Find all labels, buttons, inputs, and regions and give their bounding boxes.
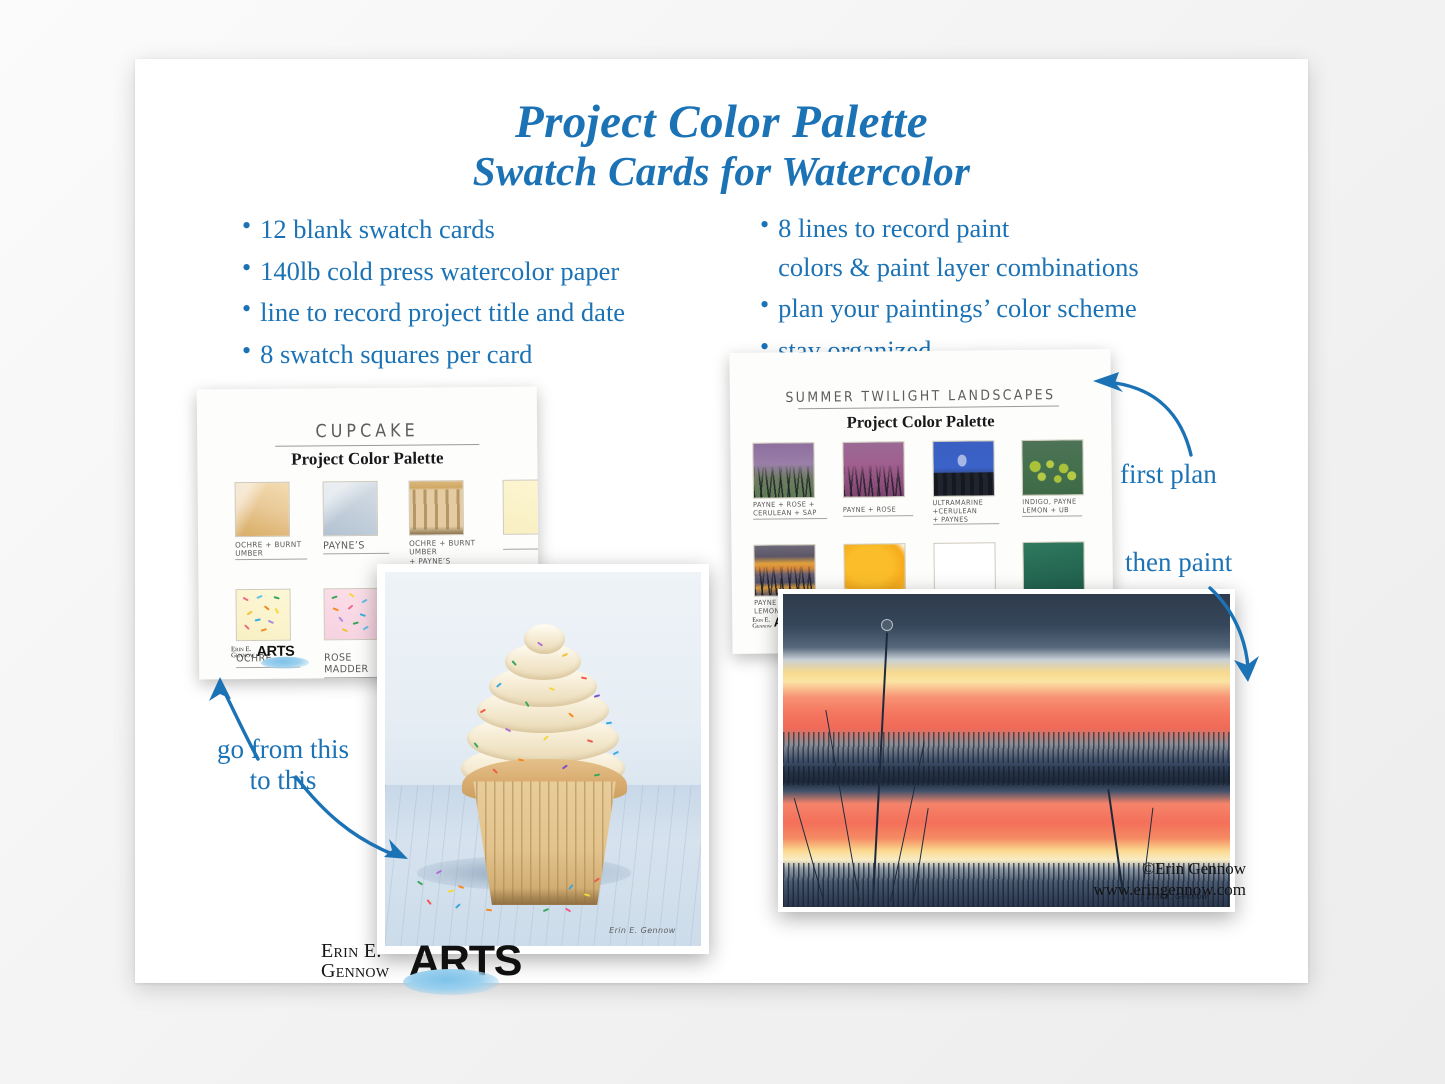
page-title: Project Color Palette Swatch Cards for W… — [135, 99, 1308, 195]
arrow-first-plan — [1085, 369, 1215, 464]
swatch-box[interactable] — [1022, 439, 1085, 496]
swatch-cell: PAYNE’S — [323, 481, 394, 568]
swatch-cell: OCHRE + BURNT UMBER + PAYNE’S — [409, 480, 488, 567]
swatch-cell: ULTRAMARINE +CERULEAN + PAYNES — [932, 440, 1009, 525]
artist-signature: Erin E. Gennow — [609, 926, 676, 935]
feature-text: plan your paintings’ color scheme — [778, 289, 1137, 328]
swatch-box[interactable] — [409, 480, 464, 535]
list-item: •12 blank swatch cards — [242, 210, 742, 249]
list-item: •plan your paintings’ color scheme — [760, 289, 1280, 328]
copyright-text: ©Erin Gennow — [1093, 858, 1246, 880]
list-item: •line to record project title and date — [242, 293, 742, 332]
title-line-2: Swatch Cards for Watercolor — [135, 149, 1308, 195]
swatch-cell: OCHRE + BURNT UMBER — [235, 482, 308, 569]
watercolor-splash-icon — [403, 969, 499, 995]
bullet-dot: • — [760, 209, 769, 242]
brand-name-line-2: Gennow — [321, 961, 389, 981]
arrow-down-right — [290, 771, 420, 881]
swatch-box[interactable] — [842, 441, 905, 498]
swatch-box[interactable] — [323, 588, 378, 640]
feature-list-left: •12 blank swatch cards •140lb cold press… — [242, 210, 742, 377]
swatch-box[interactable] — [235, 589, 290, 641]
sprinkle — [606, 721, 612, 724]
swatch-label: PAYNE + ROSE + CERULEAN + SAP — [753, 501, 829, 518]
page-background: Project Color Palette Swatch Cards for W… — [0, 0, 1445, 1084]
bullet-dot: • — [242, 335, 251, 368]
arrow-up-left — [190, 671, 300, 761]
feature-text: line to record project title and date — [260, 293, 625, 332]
far-treeline — [783, 732, 1230, 763]
swatch-label: INDIGO, PAYNE LEMON + UB — [1022, 498, 1098, 515]
swatch-box[interactable] — [235, 482, 290, 537]
swatch-box[interactable] — [752, 442, 815, 499]
brand-name-line-1: Erin E. — [321, 941, 389, 961]
cupcake-liner — [467, 781, 622, 904]
swatch-label: ULTRAMARINE +CERULEAN + PAYNES — [932, 499, 1008, 524]
feature-text: 12 blank swatch cards — [260, 210, 495, 249]
bullet-dot: • — [242, 293, 251, 326]
painting-cupcake[interactable]: Erin E. Gennow — [377, 564, 709, 954]
bullet-dot: • — [242, 252, 251, 285]
product-sheet: Project Color Palette Swatch Cards for W… — [135, 59, 1308, 983]
feature-text: 8 lines to record paint colors & paint l… — [778, 209, 1139, 286]
website-url: www.eringennow.com — [1093, 879, 1246, 901]
card-brand-logo: Erin E. Gennow ARTS — [231, 644, 295, 661]
swatch-cell — [503, 479, 540, 566]
list-item: •140lb cold press watercolor paper — [242, 252, 742, 291]
moon-icon — [881, 619, 893, 631]
title-rule — [275, 444, 479, 447]
landscape-card-handwritten-title: SUMMER TWILIGHT LANDSCAPES — [730, 385, 1111, 406]
swatch-underline — [843, 515, 913, 517]
swatch-label: OCHRE + BURNT UMBER + PAYNE’S — [409, 539, 487, 566]
footer-credits: ©Erin Gennow www.eringennow.com — [1093, 858, 1246, 902]
swatch-box[interactable] — [933, 543, 996, 596]
title-rule — [798, 406, 1059, 410]
title-line-1: Project Color Palette — [135, 99, 1308, 147]
swatch-label: PAYNE + ROSE — [843, 506, 919, 515]
landscape-card-subtitle: Project Color Palette — [730, 410, 1111, 434]
swatch-box[interactable] — [503, 479, 540, 534]
shoreline — [783, 766, 1230, 785]
swatch-underline — [323, 553, 389, 555]
brand-name-line-2: Gennow — [231, 653, 255, 660]
swatch-cell: PAYNE + ROSE — [842, 441, 919, 526]
feature-text: 8 swatch squares per card — [260, 335, 532, 374]
brand-logo: Erin E. Gennow ARTS — [321, 933, 496, 995]
swatch-label: OCHRE + BURNT UMBER — [235, 541, 307, 559]
brand-name-line-2: Gennow — [752, 623, 772, 629]
sprinkle — [612, 750, 618, 755]
cupcake-card-subtitle: Project Color Palette — [197, 448, 537, 471]
list-item: •8 lines to record paint colors & paint … — [760, 209, 1280, 286]
cupcake-card-handwritten-title: CUPCAKE — [197, 418, 537, 442]
swatch-box[interactable] — [1023, 542, 1086, 595]
arrow-then-paint — [1190, 582, 1300, 687]
swatch-underline — [503, 548, 539, 550]
feature-text: 140lb cold press watercolor paper — [260, 252, 619, 291]
swatch-box[interactable] — [323, 481, 378, 536]
bullet-dot: • — [760, 289, 769, 322]
cupcake-artwork: Erin E. Gennow — [385, 572, 701, 946]
swatch-box[interactable] — [932, 440, 995, 497]
feature-list-right: •8 lines to record paint colors & paint … — [760, 209, 1280, 373]
callout-then-paint: then paint — [1125, 547, 1315, 578]
bullet-dot: • — [242, 210, 251, 243]
list-item: •8 swatch squares per card — [242, 335, 742, 374]
swatch-label: PAYNE’S — [323, 540, 393, 552]
swatch-cell: PAYNE + ROSE + CERULEAN + SAP — [752, 442, 829, 527]
